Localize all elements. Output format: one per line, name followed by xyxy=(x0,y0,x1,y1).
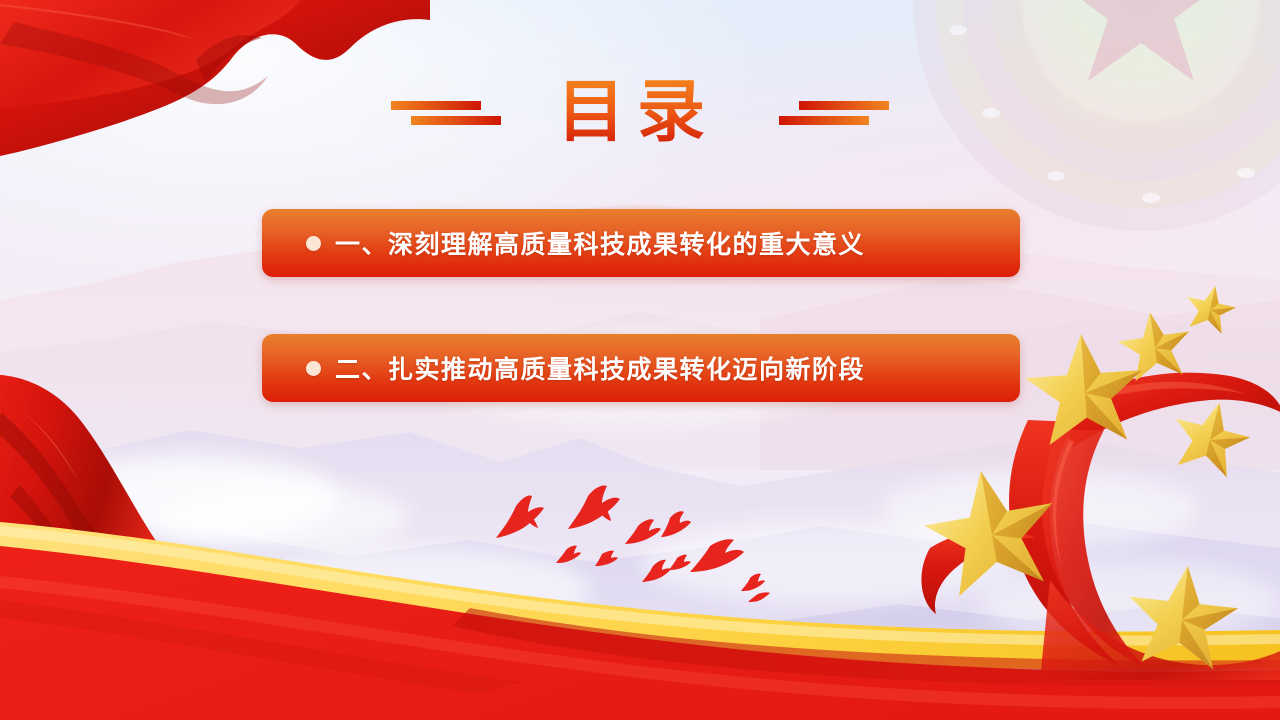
cloud-blob xyxy=(40,455,340,543)
slide-title-row: 目录 xyxy=(0,78,1280,146)
page-title: 目录 xyxy=(557,78,723,146)
flying-doves-flock-icon xyxy=(470,470,800,610)
right-dash-ornament-icon xyxy=(771,91,889,133)
cloud-blob xyxy=(60,560,360,646)
cloud-blob xyxy=(880,470,1200,550)
toc-item-2[interactable]: 二、扎实推动高质量科技成果转化迈向新阶段 xyxy=(262,334,1020,402)
cloud-blob xyxy=(250,545,590,637)
table-of-contents-list: 一、深刻理解高质量科技成果转化的重大意义 二、扎实推动高质量科技成果转化迈向新阶… xyxy=(262,209,1020,402)
red-silk-drape-left xyxy=(0,355,450,720)
red-gold-wave-ribbon xyxy=(0,480,1280,720)
presentation-slide: 目录 一、深刻理解高质量科技 xyxy=(0,0,1280,720)
toc-item-1[interactable]: 一、深刻理解高质量科技成果转化的重大意义 xyxy=(262,209,1020,277)
cloud-blob xyxy=(160,482,410,552)
dot-bullet-icon xyxy=(306,236,321,251)
toc-item-1-label: 一、深刻理解高质量科技成果转化的重大意义 xyxy=(335,225,865,261)
red-silk-ribbon-top-left xyxy=(0,0,430,215)
left-dash-ornament-icon xyxy=(391,91,509,133)
cloud-blob xyxy=(980,560,1280,644)
toc-item-2-label: 二、扎实推动高质量科技成果转化迈向新阶段 xyxy=(335,350,865,386)
party-star-emblem-icon xyxy=(906,0,1280,238)
dot-bullet-icon xyxy=(306,361,321,376)
cloud-blob xyxy=(640,520,1020,604)
